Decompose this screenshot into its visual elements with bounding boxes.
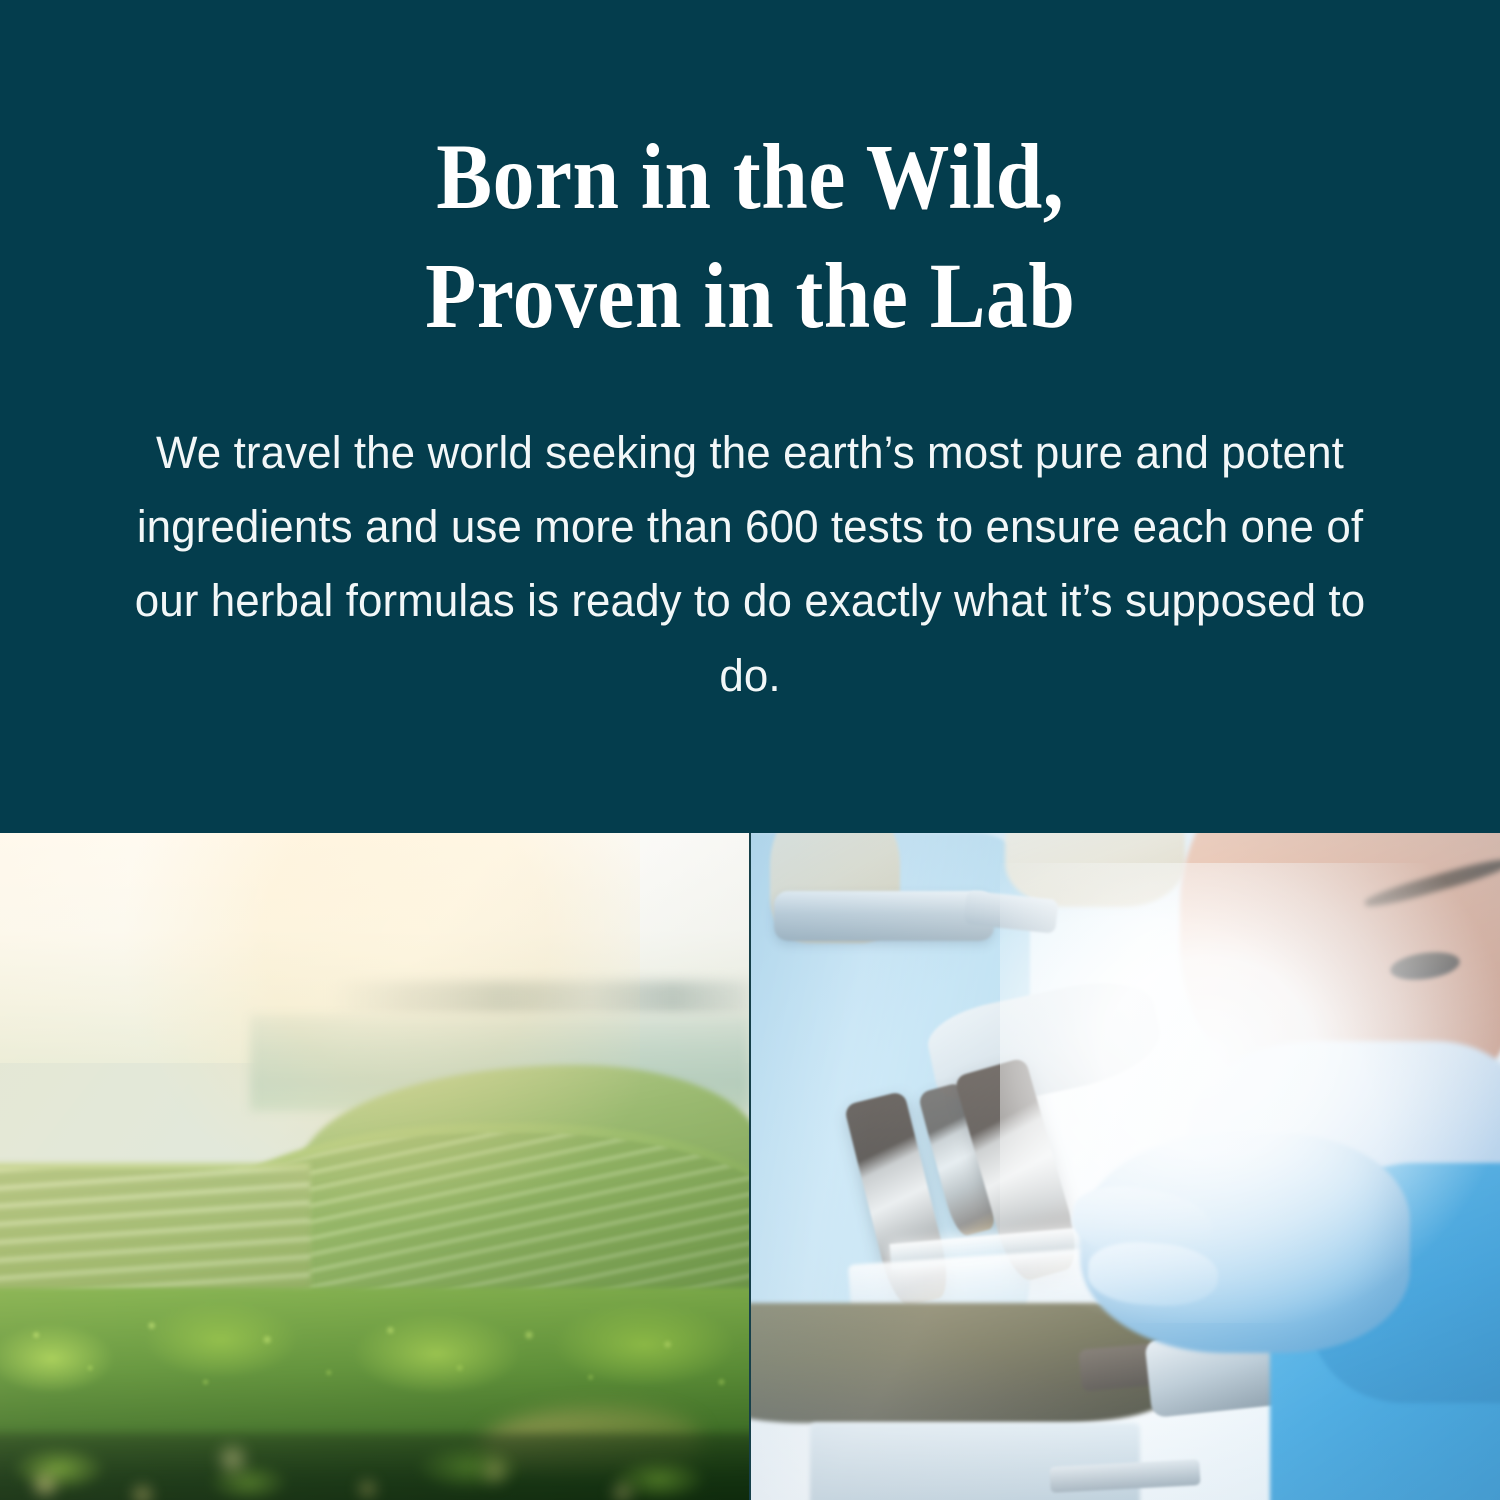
- distant-treeline: [330, 981, 750, 1015]
- headline-line-1: Born in the Wild,: [425, 118, 1075, 237]
- body-paragraph: We travel the world seeking the earth’s …: [113, 416, 1387, 713]
- headline-line-2: Proven in the Lab: [425, 237, 1075, 356]
- microscope-eyepiece-2: [1005, 833, 1185, 907]
- photo-lab-microscope: [750, 833, 1500, 1500]
- page-title: Born in the Wild, Proven in the Lab: [425, 118, 1075, 356]
- photo-divider: [749, 833, 751, 1500]
- microscope-collar: [774, 891, 994, 941]
- headline-text-panel: Born in the Wild, Proven in the Lab We t…: [0, 0, 1500, 833]
- brand-banner: Born in the Wild, Proven in the Lab We t…: [0, 0, 1500, 1500]
- golden-bokeh: [0, 1423, 750, 1500]
- photo-strip: [0, 833, 1500, 1500]
- photo-tea-harvest: [0, 833, 750, 1500]
